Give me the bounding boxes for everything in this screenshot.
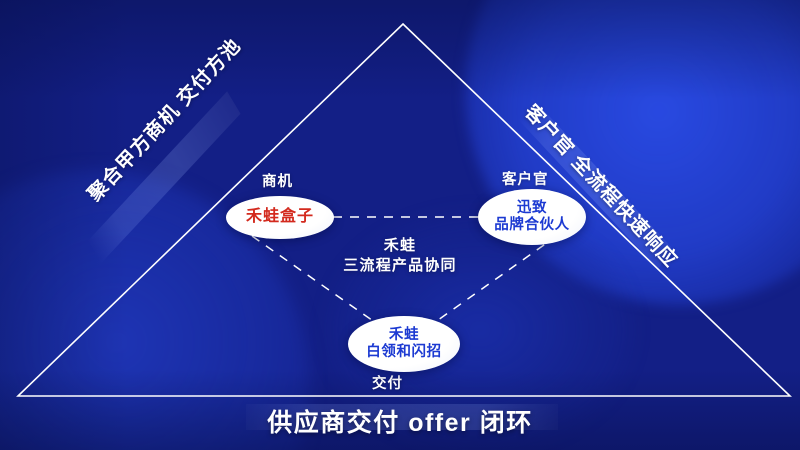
- node-customer-officer-line-2: 品牌合伙人: [494, 217, 570, 234]
- slide-canvas: 聚合甲方商机 交付方池 客户官 全流程快速响应 商机 客户官 交付 禾蛙盒子 迅…: [0, 0, 800, 450]
- node-opportunity[interactable]: 禾蛙盒子: [226, 196, 334, 239]
- node-delivery[interactable]: 禾蛙 白领和闪招: [348, 316, 460, 372]
- node-delivery-line-2: 白领和闪招: [366, 344, 442, 361]
- node-label-delivery: 交付: [372, 372, 403, 393]
- node-label-opportunity: 商机: [262, 170, 293, 191]
- node-delivery-line-1: 禾蛙: [389, 327, 419, 344]
- node-customer-officer-line-1: 迅致: [517, 200, 547, 217]
- center-caption-line-2: 三流程产品协同: [0, 254, 800, 275]
- node-opportunity-line-1: 禾蛙盒子: [246, 208, 314, 227]
- node-label-customer-officer: 客户官: [502, 168, 549, 189]
- center-caption-line-1: 禾蛙: [0, 234, 800, 255]
- bottom-caption: 供应商交付 offer 闭环: [0, 403, 800, 439]
